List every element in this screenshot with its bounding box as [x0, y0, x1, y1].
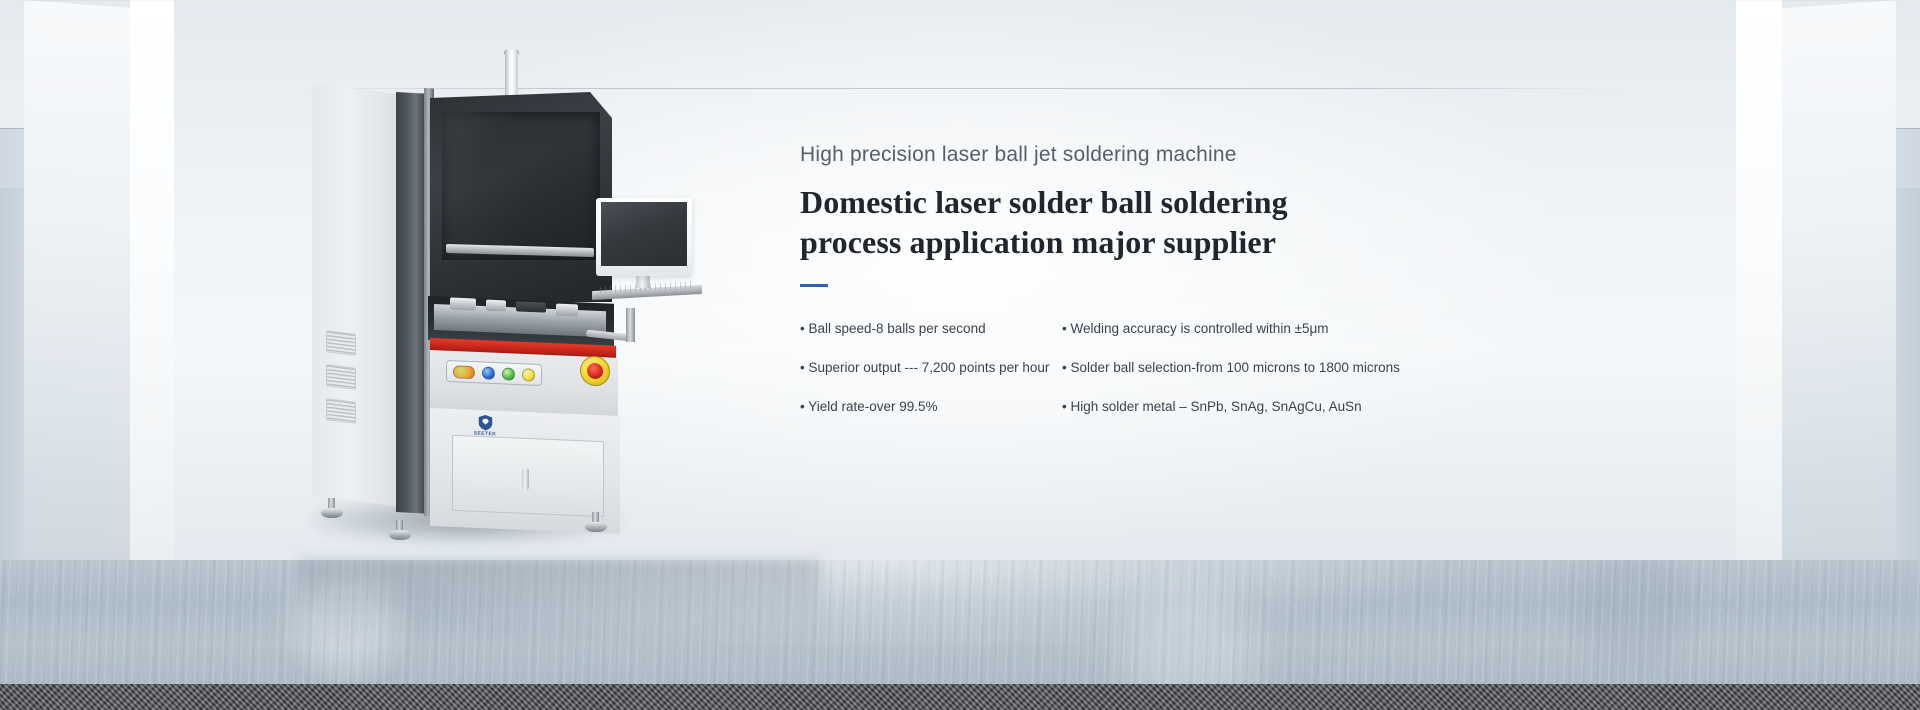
leveling-foot [585, 522, 607, 532]
feature-column-right: • Welding accuracy is controlled within … [1062, 320, 1420, 338]
leveling-foot [321, 508, 343, 518]
accent-rule [800, 284, 828, 287]
feature-column-left: • Superior output --- 7,200 points per h… [800, 359, 1062, 377]
bottom-speckled-strip [0, 684, 1920, 710]
list-item: • Yield rate-over 99.5% [800, 398, 1062, 416]
left-pillar-face [24, 0, 130, 584]
feature-column-right: • Solder ball selection-from 100 microns… [1062, 359, 1420, 377]
power-indicator-icon[interactable] [453, 365, 475, 379]
stage-fixture [486, 300, 506, 312]
list-item: • Solder ball selection-from 100 microns… [1062, 359, 1420, 377]
list-item: • Superior output --- 7,200 points per h… [800, 359, 1062, 377]
hero-text-block: High precision laser ball jet soldering … [800, 140, 1440, 287]
laser-soldering-machine: SEETEK [300, 50, 720, 540]
brand-logo: SEETEK [458, 413, 512, 437]
monitor-neck [636, 276, 650, 288]
feature-list: • Ball speed-8 balls per second • Weldin… [800, 320, 1420, 437]
feature-row: • Ball speed-8 balls per second • Weldin… [800, 320, 1420, 338]
signal-tower-light [505, 50, 518, 102]
hero-headline: Domestic laser solder ball soldering pro… [800, 182, 1440, 262]
hero-eyebrow: High precision laser ball jet soldering … [800, 140, 1440, 170]
right-pillar-face [1782, 0, 1896, 584]
feature-row: • Superior output --- 7,200 points per h… [800, 359, 1420, 377]
monitor-screen [601, 202, 687, 266]
blue-button-icon[interactable] [482, 366, 495, 380]
stage-fixture [450, 297, 476, 310]
start-button-icon[interactable] [502, 367, 515, 381]
list-item: • Welding accuracy is controlled within … [1062, 320, 1420, 338]
monitor-post [626, 308, 635, 342]
leveling-foot [389, 530, 411, 540]
vent-grille [326, 330, 356, 356]
emergency-stop-button[interactable] [587, 363, 603, 380]
list-item: • High solder metal – SnPb, SnAg, SnAgCu… [1062, 398, 1420, 416]
hero-headline-line-1: Domestic laser solder ball soldering [800, 182, 1440, 222]
machine-left-panel [312, 84, 404, 507]
right-pillar-side [1736, 0, 1782, 576]
warning-button-icon[interactable] [522, 368, 535, 382]
feature-row: • Yield rate-over 99.5% • High solder me… [800, 398, 1420, 416]
indicator-button-cluster[interactable] [446, 360, 542, 386]
stage-fixture [556, 304, 578, 317]
shield-icon [478, 414, 493, 432]
window-glare [442, 112, 600, 260]
feature-column-right: • High solder metal – SnPb, SnAg, SnAgCu… [1062, 398, 1420, 416]
product-hero-banner: SEETEK High precision laser ball jet sol… [0, 0, 1920, 710]
feature-column-left: • Ball speed-8 balls per second [800, 320, 1062, 338]
vent-grille [326, 398, 356, 424]
stage-fixture [516, 301, 546, 312]
vent-grille [326, 364, 356, 390]
hero-headline-line-2: process application major supplier [800, 222, 1440, 262]
machine-floor-reflection [300, 560, 820, 656]
cabinet-door-handle[interactable] [522, 468, 529, 490]
feature-column-left: • Yield rate-over 99.5% [800, 398, 1062, 416]
left-pillar-side [130, 0, 174, 576]
list-item: • Ball speed-8 balls per second [800, 320, 1062, 338]
